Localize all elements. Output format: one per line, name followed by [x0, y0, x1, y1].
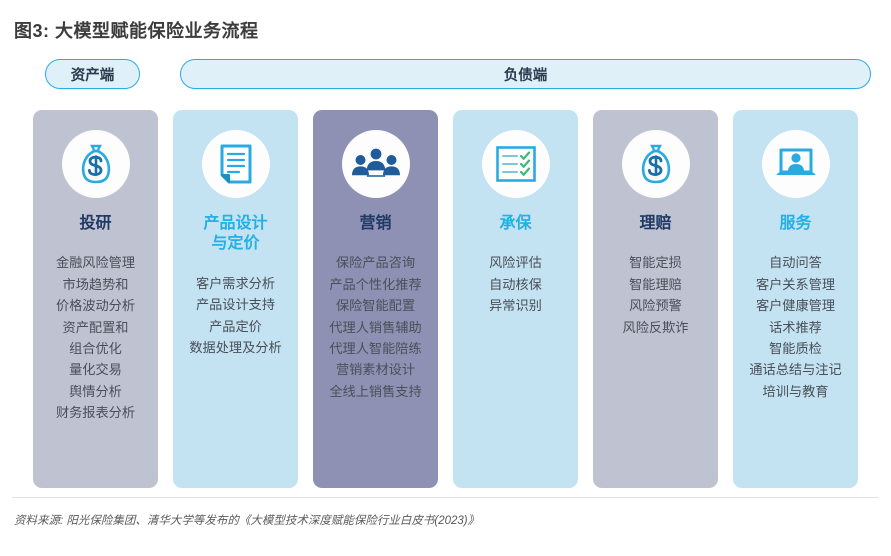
- process-item: 代理人销售辅助: [315, 317, 436, 338]
- process-item: 风险反欺诈: [595, 317, 716, 338]
- process-column-title: 产品设计与定价: [203, 214, 267, 255]
- checklist-icon: [482, 130, 550, 198]
- process-item: 客户需求分析: [175, 273, 296, 294]
- page-title: 图3: 大模型赋能保险业务流程: [14, 17, 259, 43]
- money-bag-icon: [622, 130, 690, 198]
- process-item: 保险智能配置: [315, 295, 436, 316]
- badge-asset-side: 资产端: [45, 59, 140, 89]
- process-item: 价格波动分析: [35, 295, 156, 316]
- process-column-title: 承保: [499, 214, 531, 234]
- badge-liability-side-label: 负债端: [504, 64, 548, 85]
- process-item: 培训与教育: [735, 381, 856, 402]
- process-item: 话术推荐: [735, 317, 856, 338]
- process-item: 金融风险管理: [35, 252, 156, 273]
- process-item: 风险预警: [595, 295, 716, 316]
- process-item: 通话总结与注记: [735, 359, 856, 380]
- process-item: 自动问答: [735, 252, 856, 273]
- people-group-icon: [342, 130, 410, 198]
- stage-badge-row: 资产端 负债端: [0, 59, 891, 89]
- process-item: 保险产品咨询: [315, 252, 436, 273]
- process-column-title: 营销: [359, 214, 391, 234]
- process-item: 风险评估: [455, 252, 576, 273]
- process-item: 智能质检: [735, 338, 856, 359]
- document-icon: [202, 130, 270, 198]
- process-column-service: 服务 自动问答客户关系管理客户健康管理话术推荐智能质检通话总结与注记培训与教育: [733, 110, 858, 488]
- footer-divider: [12, 497, 879, 498]
- process-column-claims: 理赔 智能定损智能理赔风险预警风险反欺诈: [593, 110, 718, 488]
- process-column-underwriting: 承保 风险评估自动核保异常识别: [453, 110, 578, 488]
- process-item: 异常识别: [455, 295, 576, 316]
- process-item: 客户关系管理: [735, 274, 856, 295]
- process-item: 舆情分析: [35, 381, 156, 402]
- badge-liability-side: 负债端: [180, 59, 871, 89]
- process-column-container: 投研 金融风险管理市场趋势和价格波动分析资产配置和组合优化量化交易舆情分析财务报…: [0, 110, 891, 488]
- process-item: 数据处理及分析: [175, 337, 296, 358]
- process-column-title: 理赔: [639, 214, 671, 234]
- process-column-items: 智能定损智能理赔风险预警风险反欺诈: [593, 252, 718, 338]
- process-column-title: 投研: [79, 214, 111, 234]
- process-item: 自动核保: [455, 274, 576, 295]
- process-column-items: 保险产品咨询产品个性化推荐保险智能配置代理人销售辅助代理人智能陪练营销素材设计全…: [313, 252, 438, 402]
- badge-asset-side-label: 资产端: [71, 64, 115, 85]
- money-bag-icon: [62, 130, 130, 198]
- process-item: 产品个性化推荐: [315, 274, 436, 295]
- process-column-marketing: 营销 保险产品咨询产品个性化推荐保险智能配置代理人销售辅助代理人智能陪练营销素材…: [313, 110, 438, 488]
- process-item: 市场趋势和: [35, 274, 156, 295]
- source-note: 资料来源: 阳光保险集团、清华大学等发布的《大模型技术深度赋能保险行业白皮书(2…: [14, 512, 479, 528]
- process-item: 客户健康管理: [735, 295, 856, 316]
- process-column-items: 风险评估自动核保异常识别: [453, 252, 578, 316]
- person-on-laptop-icon: [762, 130, 830, 198]
- process-item: 资产配置和: [35, 317, 156, 338]
- process-item: 营销素材设计: [315, 359, 436, 380]
- process-column-product-design-pricing: 产品设计与定价 客户需求分析产品设计支持产品定价数据处理及分析: [173, 110, 298, 488]
- process-column-investment-research: 投研 金融风险管理市场趋势和价格波动分析资产配置和组合优化量化交易舆情分析财务报…: [33, 110, 158, 488]
- process-item: 代理人智能陪练: [315, 338, 436, 359]
- process-item: 量化交易: [35, 359, 156, 380]
- process-item: 产品设计支持: [175, 294, 296, 315]
- process-item: 财务报表分析: [35, 402, 156, 423]
- process-item: 全线上销售支持: [315, 381, 436, 402]
- process-column-title: 服务: [779, 214, 811, 234]
- process-column-items: 自动问答客户关系管理客户健康管理话术推荐智能质检通话总结与注记培训与教育: [733, 252, 858, 402]
- process-item: 组合优化: [35, 338, 156, 359]
- process-item: 智能定损: [595, 252, 716, 273]
- process-item: 智能理赔: [595, 274, 716, 295]
- process-item: 产品定价: [175, 316, 296, 337]
- process-column-items: 金融风险管理市场趋势和价格波动分析资产配置和组合优化量化交易舆情分析财务报表分析: [33, 252, 158, 423]
- process-column-items: 客户需求分析产品设计支持产品定价数据处理及分析: [173, 273, 298, 359]
